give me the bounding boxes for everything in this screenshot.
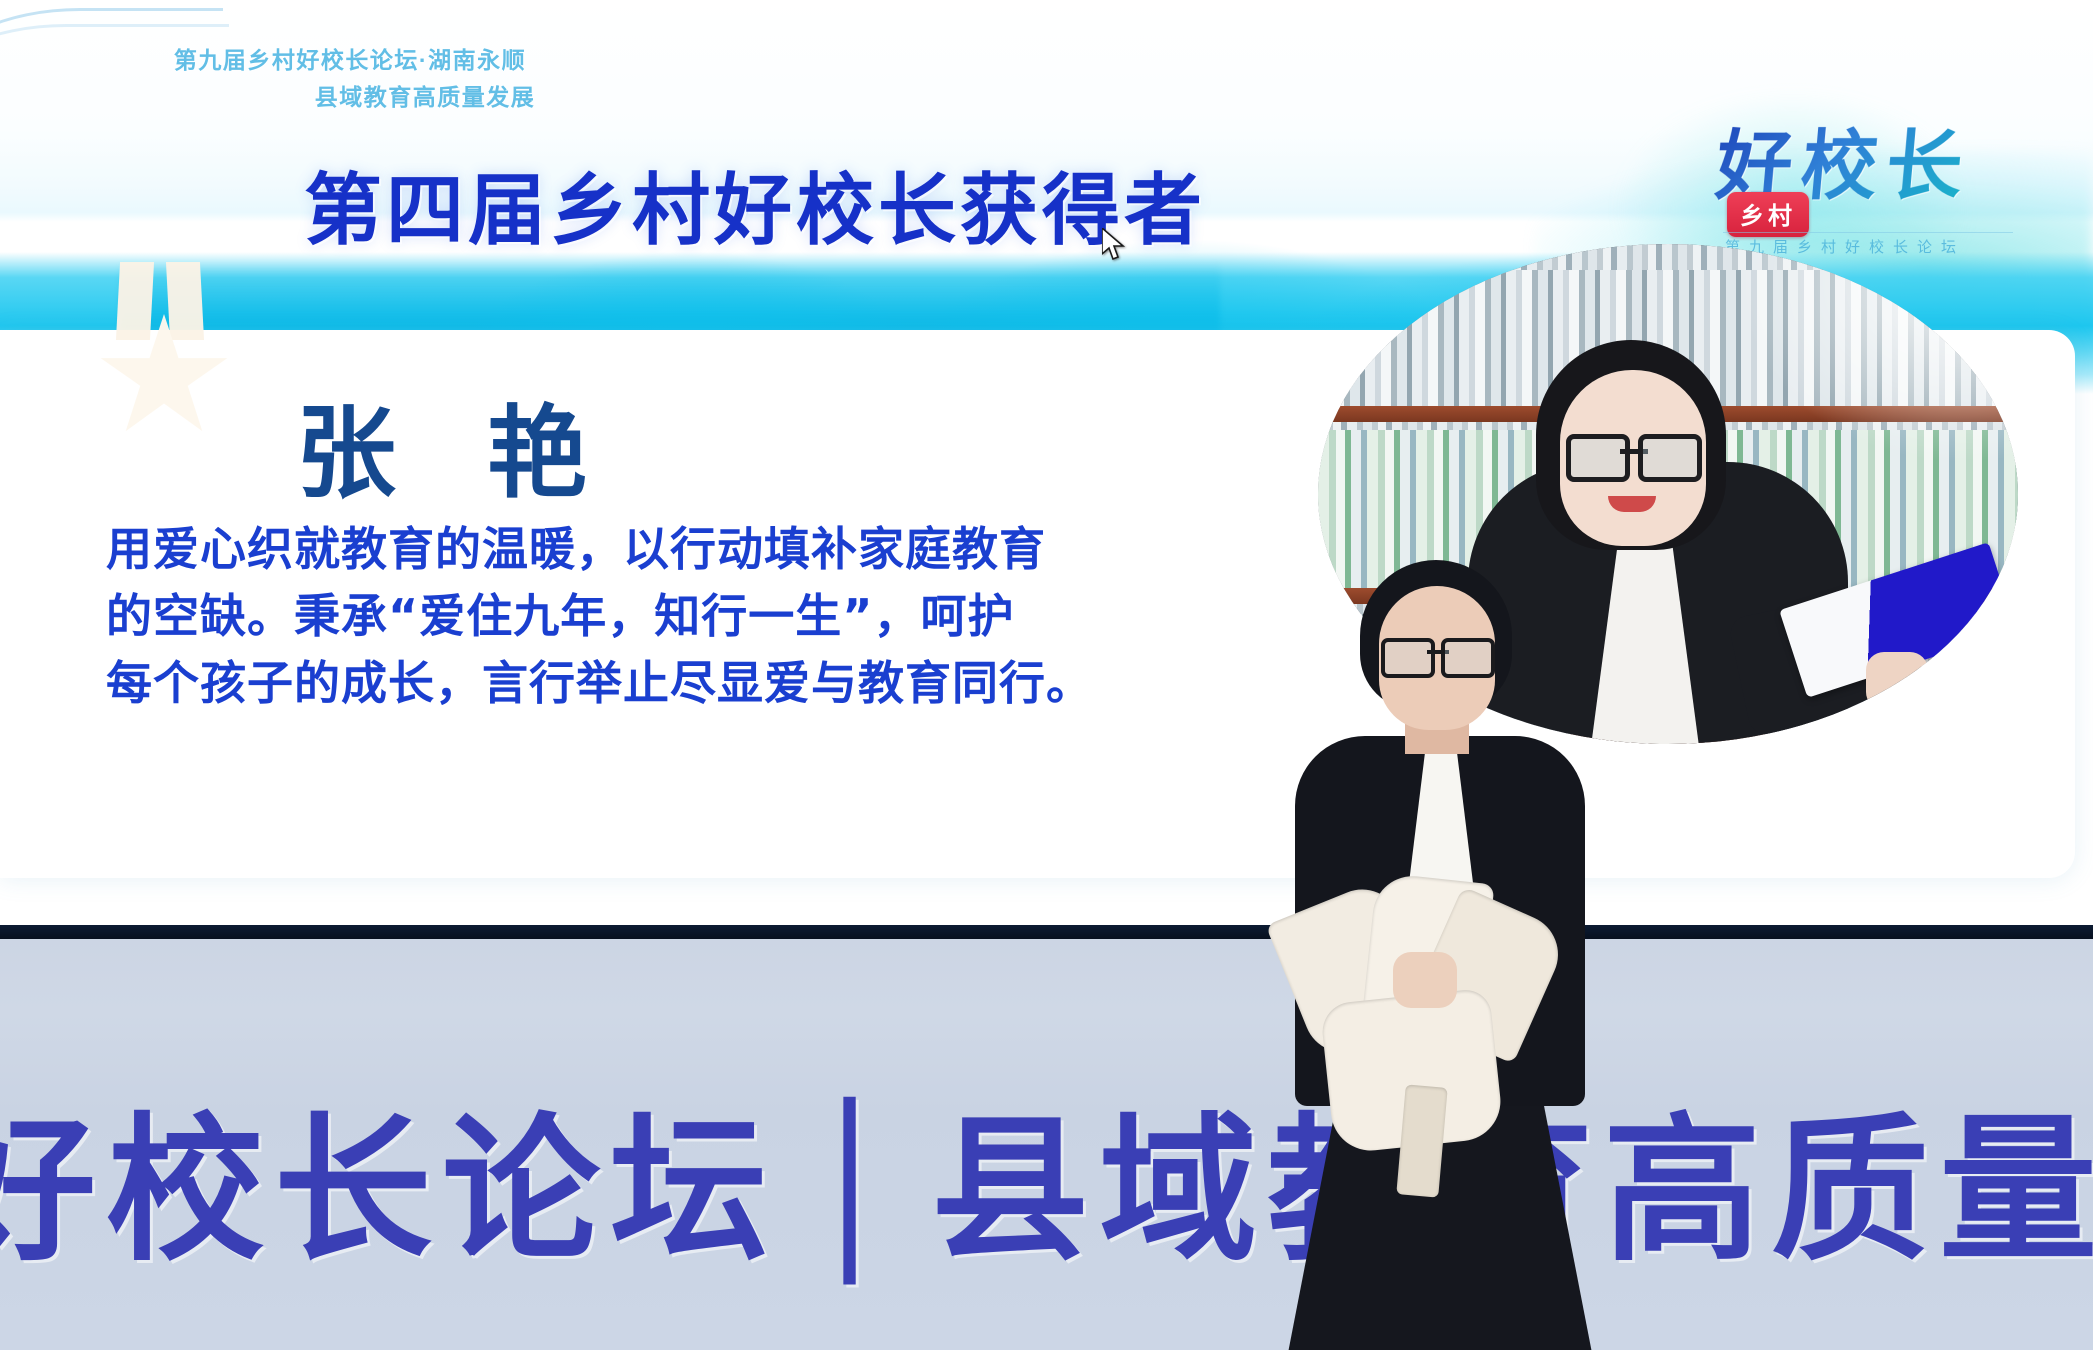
event-header: 第九届乡村好校长论坛·湖南永顺 县域教育高质量发展 <box>0 42 700 117</box>
stage-banner-separator: │ <box>778 1099 931 1283</box>
bouquet <box>1261 878 1571 1158</box>
portrait-hand <box>1866 652 1928 710</box>
window-glow <box>1738 244 2018 464</box>
led-screen: 第九届乡村好校长论坛·湖南永顺 县域教育高质量发展 第四届乡村好校长获得者 好校… <box>0 0 2093 925</box>
medal-ribbon-right <box>166 262 204 340</box>
page-title: 第四届乡村好校长获得者 <box>0 148 1510 260</box>
citation-line-3: 每个孩子的成长，言行举止尽显爱与教育同行。 <box>106 650 1266 717</box>
brand-logo-rule <box>1723 232 2013 233</box>
brand-logo: 好校长 乡村 第九届乡村好校长论坛 <box>1717 104 2017 254</box>
presenter-glasses-left-lens <box>1381 638 1435 678</box>
stage-banner-left: 好校长论坛 <box>0 1099 778 1283</box>
medal-ribbon-left <box>116 262 154 340</box>
brand-logo-badge: 乡村 <box>1727 192 1809 237</box>
portrait-glasses-right-lens <box>1638 434 1702 482</box>
medal-star-icon <box>92 262 272 422</box>
event-header-line2: 县域教育高质量发展 <box>0 79 700 116</box>
portrait-glasses-left-lens <box>1566 434 1630 482</box>
citation-line-2: 的空缺。秉承“爱住九年，知行一生”，呵护 <box>106 583 1266 650</box>
event-header-line1: 第九届乡村好校长论坛·湖南永顺 <box>174 47 526 73</box>
stage-banner-text: 好校长论坛│县域教育高质量发展 <box>0 1062 2093 1291</box>
awardee-name: 张 艳 <box>296 372 615 517</box>
portrait-glasses-icon <box>1566 434 1702 472</box>
presenter-glasses-right-lens <box>1441 638 1495 678</box>
citation-line-1: 用爱心织就教育的温暖，以行动填补家庭教育 <box>106 516 1266 583</box>
awardee-citation: 用爱心织就教育的温暖，以行动填补家庭教育 的空缺。秉承“爱住九年，知行一生”，呵… <box>106 516 1266 717</box>
presenter-hand <box>1393 952 1457 1008</box>
presenter-glasses-icon <box>1381 638 1495 670</box>
screenshot-stage: 第九届乡村好校长论坛·湖南永顺 县域教育高质量发展 第四届乡村好校长获得者 好校… <box>0 0 2093 1350</box>
stage-dark-gap <box>0 925 2093 939</box>
presenter-on-stage <box>1255 560 1615 1350</box>
